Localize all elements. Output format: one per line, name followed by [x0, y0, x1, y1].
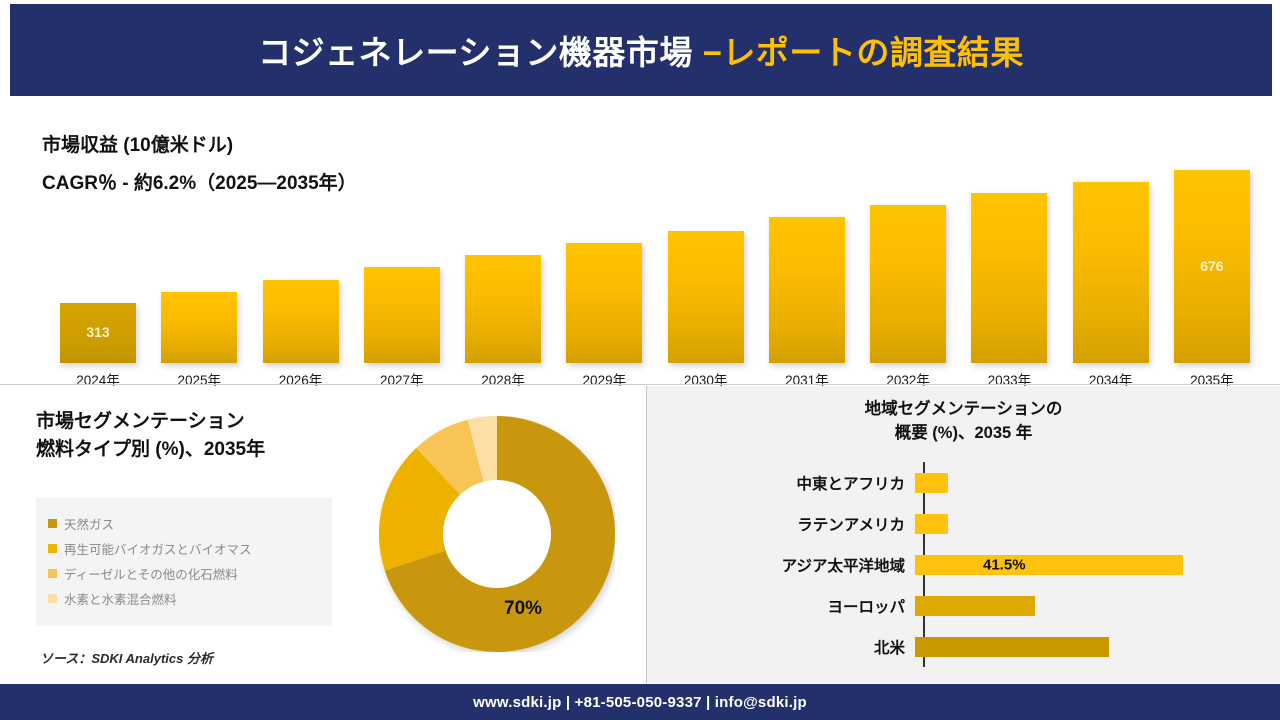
bar-column — [870, 205, 946, 363]
regional-row: ラテンアメリカ — [677, 503, 1264, 544]
legend-swatch-icon — [48, 569, 57, 578]
regional-bar-area: 41.5% — [915, 544, 1264, 585]
revenue-bar — [465, 255, 541, 363]
regional-row: アジア太平洋地域41.5% — [677, 544, 1264, 585]
segmentation-title: 市場セグメンテーション 燃料タイプ別 (%)、2035年 — [36, 408, 265, 463]
revenue-bar — [668, 231, 744, 363]
bar-value-label: 676 — [1174, 258, 1250, 274]
legend-label: 再生可能バイオガスとバイオマス — [64, 539, 252, 558]
donut-value-label: 70% — [504, 598, 542, 620]
revenue-bar — [1073, 182, 1149, 363]
legend-label: 天然ガス — [64, 514, 114, 533]
bar-column: 313 — [60, 303, 136, 363]
revenue-bar — [566, 243, 642, 363]
bar-column — [668, 231, 744, 363]
regional-label: アジア太平洋地域 — [677, 554, 915, 576]
revenue-bar: 676 — [1174, 170, 1250, 363]
bar-column: 676 — [1174, 170, 1250, 363]
bar-column — [971, 193, 1047, 363]
revenue-chart-panel: 市場収益 (10億米ドル) CAGR％ - 約6.2%（2025―2035年） … — [0, 96, 1280, 384]
segmentation-panel: 市場セグメンテーション 燃料タイプ別 (%)、2035年 天然ガス再生可能バイオ… — [0, 386, 645, 683]
page-title-accent: −レポートの調査結果 — [703, 34, 1024, 71]
bar-column — [1073, 182, 1149, 363]
segmentation-legend: 天然ガス再生可能バイオガスとバイオマスディーゼルとその他の化石燃料水素と水素混合… — [36, 498, 332, 626]
regional-row: ヨーロッパ — [677, 585, 1264, 626]
revenue-bar — [870, 205, 946, 363]
regional-bar — [915, 473, 948, 493]
bar-column — [161, 292, 237, 363]
regional-bar — [915, 637, 1109, 657]
regional-bar — [915, 514, 948, 534]
regional-panel: 地域セグメンテーションの 概要 (%)、2035 年 中東とアフリカラテンアメリ… — [646, 386, 1280, 683]
revenue-bar — [263, 280, 339, 363]
source-note: ソース：SDKI Analytics 分析 — [40, 648, 213, 667]
regional-bar-chart: 中東とアフリカラテンアメリカアジア太平洋地域41.5%ヨーロッパ北米 — [677, 462, 1264, 675]
revenue-bar — [161, 292, 237, 363]
legend-swatch-icon — [48, 594, 57, 603]
regional-bar-value: 41.5% — [983, 556, 1026, 573]
regional-bar-area — [915, 503, 1264, 544]
bar-column — [769, 217, 845, 363]
revenue-bar-chart: 313676 2024年2025年2026年2027年2028年2029年203… — [40, 126, 1260, 384]
legend-swatch-icon — [48, 519, 57, 528]
fuel-type-donut-chart: 70% — [379, 416, 615, 652]
legend-item: 天然ガス — [48, 514, 320, 533]
donut-hole — [443, 480, 551, 588]
bar-series: 313676 — [60, 126, 1250, 363]
legend-item: 水素と水素混合燃料 — [48, 589, 320, 608]
regional-row: 北米 — [677, 626, 1264, 667]
regional-label: ラテンアメリカ — [677, 513, 915, 535]
regional-bar-area — [915, 626, 1264, 667]
donut-svg — [379, 416, 615, 652]
bar-value-label: 313 — [60, 324, 136, 340]
page-title: コジェネレーション機器市場 −レポートの調査結果 — [258, 26, 1024, 74]
bar-column — [364, 267, 440, 363]
legend-label: ディーゼルとその他の化石燃料 — [64, 564, 238, 583]
regional-bar — [915, 596, 1035, 616]
legend-item: 再生可能バイオガスとバイオマス — [48, 539, 320, 558]
regional-bar: 41.5% — [915, 555, 1183, 575]
bar-column — [263, 280, 339, 363]
revenue-bar — [769, 217, 845, 363]
segmentation-title-line2: 燃料タイプ別 (%)、2035年 — [36, 436, 265, 464]
header-banner: コジェネレーション機器市場 −レポートの調査結果 — [10, 4, 1272, 96]
revenue-bar — [971, 193, 1047, 363]
regional-bar-area — [915, 585, 1264, 626]
regional-title: 地域セグメンテーションの 概要 (%)、2035 年 — [647, 398, 1280, 446]
page-title-main: コジェネレーション機器市場 — [258, 34, 703, 71]
regional-label: 中東とアフリカ — [677, 472, 915, 494]
regional-label: 北米 — [677, 636, 915, 658]
panel-divider-horizontal — [0, 384, 1280, 385]
footer-banner: www.sdki.jp | +81-505-050-9337 | info@sd… — [0, 684, 1280, 720]
regional-row: 中東とアフリカ — [677, 462, 1264, 503]
regional-label: ヨーロッパ — [677, 595, 915, 617]
segmentation-title-line1: 市場セグメンテーション — [36, 408, 265, 436]
legend-swatch-icon — [48, 544, 57, 553]
legend-label: 水素と水素混合燃料 — [64, 589, 177, 608]
bar-column — [566, 243, 642, 363]
bar-column — [465, 255, 541, 363]
regional-bar-area — [915, 462, 1264, 503]
revenue-bar — [364, 267, 440, 363]
infographic-page: コジェネレーション機器市場 −レポートの調査結果 市場収益 (10億米ドル) C… — [0, 0, 1280, 720]
regional-title-line2: 概要 (%)、2035 年 — [647, 422, 1280, 446]
legend-item: ディーゼルとその他の化石燃料 — [48, 564, 320, 583]
revenue-bar: 313 — [60, 303, 136, 363]
regional-title-line1: 地域セグメンテーションの — [647, 398, 1280, 422]
footer-contact: www.sdki.jp | +81-505-050-9337 | info@sd… — [473, 694, 807, 711]
